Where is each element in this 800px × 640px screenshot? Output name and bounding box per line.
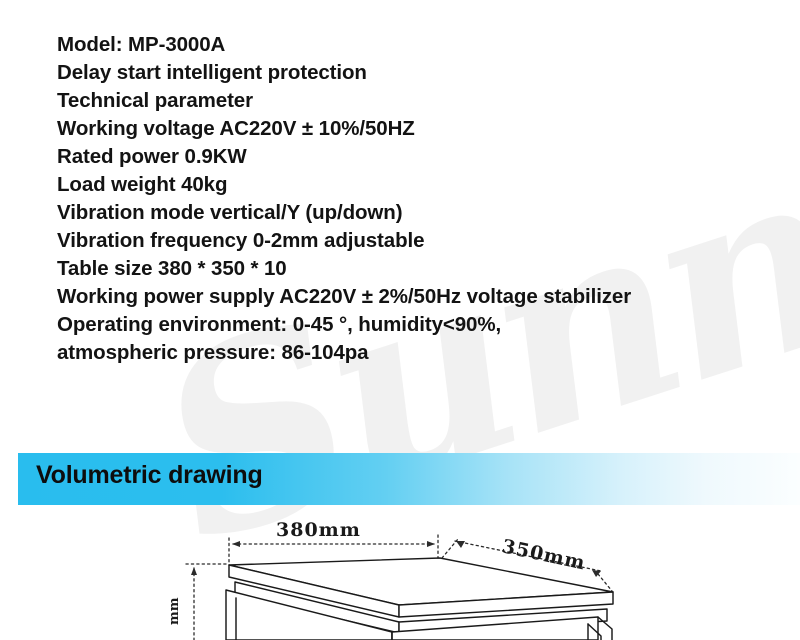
- spec-line-vibration-mode: Vibration mode vertical/Y (up/down): [57, 199, 787, 227]
- spec-line-model: Model: MP-3000A: [57, 31, 787, 59]
- spec-line-table-size: Table size 380 * 350 * 10: [57, 255, 787, 283]
- spec-line-vibration-freq: Vibration frequency 0-2mm adjustable: [57, 227, 787, 255]
- volumetric-drawing-banner: Volumetric drawing: [18, 453, 800, 505]
- spec-line-rated-power: Rated power 0.9KW: [57, 143, 787, 171]
- spec-line-operating-env: Operating environment: 0-45 °, humidity<…: [57, 311, 787, 339]
- dimension-label-depth: 350mm: [500, 535, 588, 574]
- spec-line-atmos-pressure: atmospheric pressure: 86-104pa: [57, 339, 787, 367]
- specification-list: Model: MP-3000A Delay start intelligent …: [57, 31, 787, 367]
- machine-outline: [226, 558, 613, 640]
- banner-title: Volumetric drawing: [36, 461, 263, 490]
- spec-line-delay-start: Delay start intelligent protection: [57, 59, 787, 87]
- volumetric-drawing-figure: 380mm 350mm mm: [0, 505, 800, 640]
- dimension-label-height: mm: [167, 597, 182, 625]
- dimension-label-width: 380mm: [276, 519, 361, 541]
- spec-line-technical-header: Technical parameter: [57, 87, 787, 115]
- spec-line-power-supply: Working power supply AC220V ± 2%/50Hz vo…: [57, 283, 787, 311]
- spec-line-load-weight: Load weight 40kg: [57, 171, 787, 199]
- spec-line-working-voltage: Working voltage AC220V ± 10%/50HZ: [57, 115, 787, 143]
